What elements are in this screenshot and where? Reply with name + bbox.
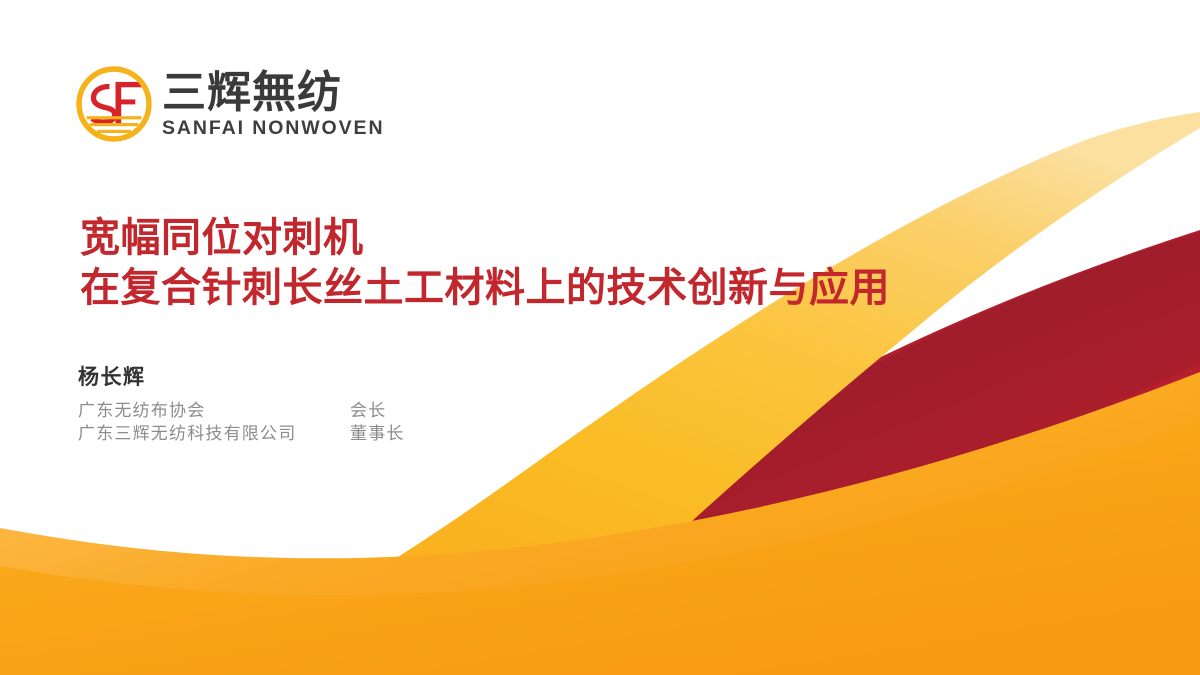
affiliation-organization: 广东无纺布协会	[78, 400, 350, 423]
affiliation-role: 会长	[350, 400, 386, 423]
sf-monogram-icon	[76, 66, 152, 142]
author-name: 杨长辉	[78, 362, 405, 392]
company-logo: 三辉無纺 SANFAI NONWOVEN	[76, 66, 384, 142]
logo-chinese-name: 三辉無纺	[162, 70, 384, 116]
affiliation-organization: 广东三辉无纺科技有限公司	[78, 423, 350, 446]
affiliation-list: 广东无纺布协会 会长 广东三辉无纺科技有限公司 董事长	[78, 400, 405, 446]
title-line-1: 宽幅同位对刺机	[80, 213, 1040, 263]
page-title: 宽幅同位对刺机 在复合针刺长丝土工材料上的技术创新与应用	[80, 213, 1040, 313]
affiliation-row: 广东三辉无纺科技有限公司 董事长	[78, 423, 405, 446]
author-block: 杨长辉 广东无纺布协会 会长 广东三辉无纺科技有限公司 董事长	[78, 362, 405, 446]
affiliation-role: 董事长	[350, 423, 405, 446]
affiliation-row: 广东无纺布协会 会长	[78, 400, 405, 423]
title-slide: 三辉無纺 SANFAI NONWOVEN 宽幅同位对刺机 在复合针刺长丝土工材料…	[0, 0, 1200, 675]
logo-english-name: SANFAI NONWOVEN	[162, 117, 384, 139]
logo-wordmark: 三辉無纺 SANFAI NONWOVEN	[162, 70, 384, 139]
title-line-2: 在复合针刺长丝土工材料上的技术创新与应用	[80, 263, 1040, 313]
